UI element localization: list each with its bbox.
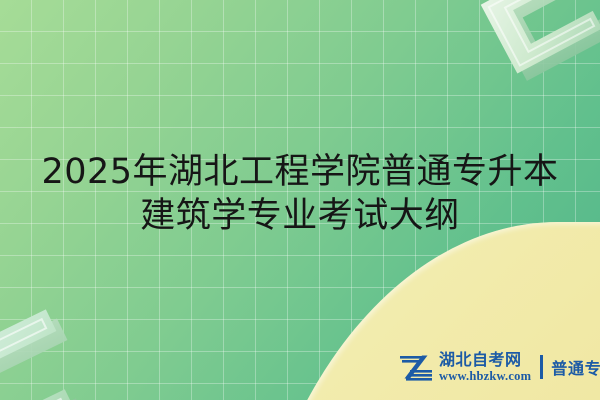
page-title: 2025年湖北工程学院普通专升本 建筑学专业考试大纲 bbox=[0, 150, 600, 238]
watermark-divider bbox=[540, 355, 543, 379]
arrow-bottom-left-decoration bbox=[0, 292, 148, 400]
hbzkw-z-mark-icon bbox=[398, 352, 434, 382]
title-line-1: 2025年湖北工程学院普通专升本 bbox=[0, 150, 600, 194]
banner-image: 2025年湖北工程学院普通专升本 建筑学专业考试大纲 湖北自考网 bbox=[0, 0, 600, 400]
watermark-site-name: 湖北自考网 bbox=[439, 351, 531, 368]
watermark-site-url: www.hbzkw.com bbox=[439, 369, 531, 383]
title-line-2: 建筑学专业考试大纲 bbox=[0, 194, 600, 238]
arrow-top-right-decoration bbox=[470, 0, 600, 156]
watermark-logo: 湖北自考网 www.hbzkw.com 普通专升本 bbox=[398, 349, 600, 385]
watermark-text-block: 湖北自考网 www.hbzkw.com bbox=[439, 351, 531, 383]
watermark-tag: 普通专升本 bbox=[551, 355, 600, 379]
